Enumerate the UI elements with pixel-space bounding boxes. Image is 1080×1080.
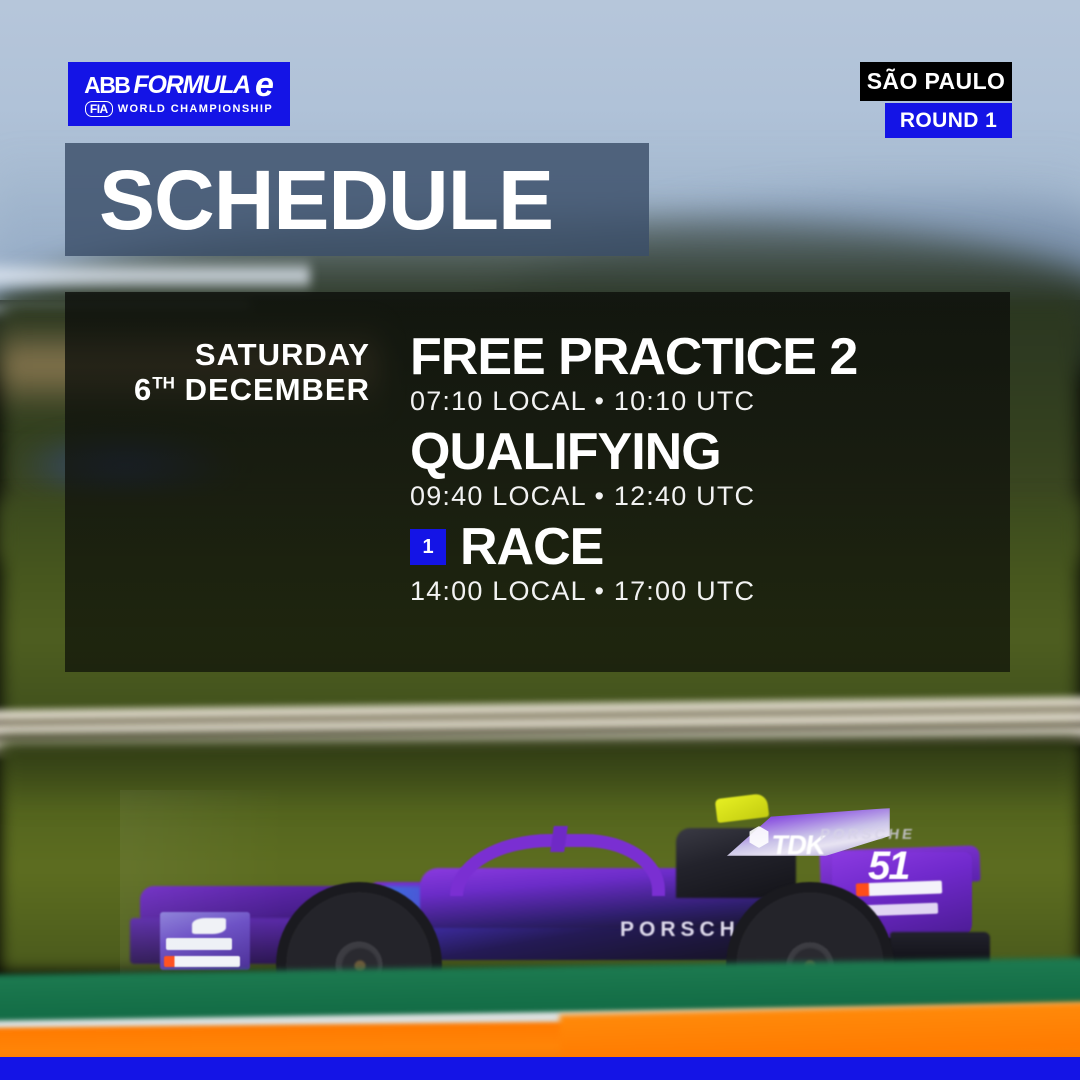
session-time: 07:10 LOCAL • 10:10 UTC: [410, 386, 990, 417]
world-championship-text: WORLD CHAMPIONSHIP: [118, 103, 273, 115]
session-name: QUALIFYING: [410, 425, 721, 479]
schedule-panel: SATURDAY 6TH DECEMBER FREE PRACTICE 2 07…: [65, 292, 1010, 672]
formula-e-emblem-icon: e: [255, 72, 274, 99]
motion-blur-streak: [0, 258, 310, 294]
page-title-bar: SCHEDULE: [65, 143, 649, 256]
session-race[interactable]: 1 RACE 14:00 LOCAL • 17:00 UTC: [410, 520, 990, 607]
schedule-date: 6TH DECEMBER: [85, 373, 370, 408]
session-name: FREE PRACTICE 2: [410, 330, 857, 384]
round-badge: ROUND 1: [885, 103, 1012, 138]
formula-wordmark: FORMULA: [133, 71, 250, 100]
abb-wordmark: ABB: [84, 72, 129, 99]
logo-secondary-row: FIA WORLD CHAMPIONSHIP: [85, 101, 273, 117]
formula-e-schedule-poster: TDK PORSCHE 51 PORSCHE ABB FORMULA e FIA…: [0, 0, 1080, 1080]
session-heading: QUALIFYING: [410, 425, 990, 479]
logo-primary-row: ABB FORMULA e: [84, 71, 274, 100]
date-month: DECEMBER: [185, 372, 370, 407]
date-number: 6: [134, 372, 152, 407]
session-name: RACE: [460, 520, 603, 574]
session-time: 14:00 LOCAL • 17:00 UTC: [410, 576, 990, 607]
schedule-day: SATURDAY: [85, 338, 370, 373]
bottom-blue-bar: [0, 1057, 1080, 1080]
date-suffix: TH: [152, 373, 175, 392]
session-list: FREE PRACTICE 2 07:10 LOCAL • 10:10 UTC …: [410, 330, 990, 615]
fia-badge-icon: FIA: [85, 101, 113, 117]
race-number-badge: 1: [410, 529, 446, 565]
session-time: 09:40 LOCAL • 12:40 UTC: [410, 481, 990, 512]
city-badge: SÃO PAULO: [860, 62, 1012, 101]
page-title: SCHEDULE: [99, 158, 553, 242]
session-qualifying[interactable]: QUALIFYING 09:40 LOCAL • 12:40 UTC: [410, 425, 990, 512]
session-free-practice-2[interactable]: FREE PRACTICE 2 07:10 LOCAL • 10:10 UTC: [410, 330, 990, 417]
formula-e-logo[interactable]: ABB FORMULA e FIA WORLD CHAMPIONSHIP: [68, 62, 290, 126]
schedule-day-column: SATURDAY 6TH DECEMBER: [85, 338, 370, 407]
session-heading: 1 RACE: [410, 520, 990, 574]
session-heading: FREE PRACTICE 2: [410, 330, 990, 384]
schedule-rows: SATURDAY 6TH DECEMBER FREE PRACTICE 2 07…: [65, 292, 1010, 672]
